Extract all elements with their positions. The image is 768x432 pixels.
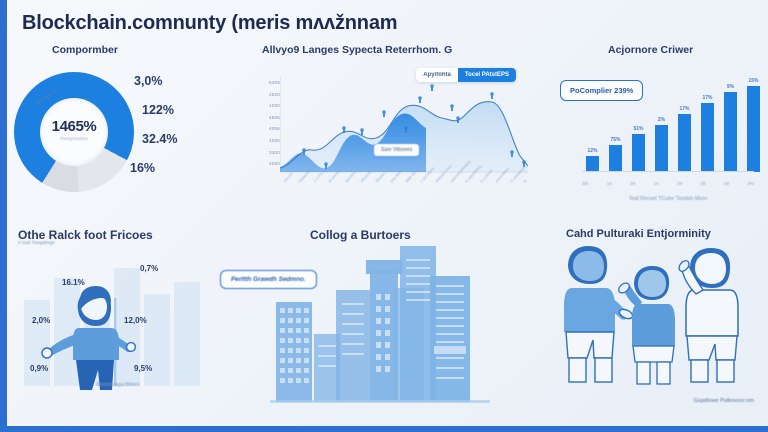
bar-value-label: 2% [658,117,665,123]
bar-chart-x-axis: 3/5 14 28 14 29 25 28 2% [582,181,754,186]
bottom-middle-panel: Perltth Grawdh Sedmno. [236,218,532,418]
bar-item[interactable]: 15% [747,78,760,172]
area-y-axis: 5405 2520 1000 4506 4006 1000 3300 2260 [246,80,280,173]
three-people-icon [556,240,754,388]
bar-tick-7: 28 [724,181,729,186]
bar-value-label: 17% [679,106,689,112]
bar-value-label: 75% [610,137,620,143]
bar-panel-heading: Acjornore Criwer [608,44,693,56]
bar-value-label: 9% [727,84,734,90]
y-tick-2: 2520 [246,92,280,97]
stat-label-1: 16.1% [62,278,85,287]
bar-rect[interactable] [632,134,645,172]
donut-center-subtitle: Pwrigntsiatisa [14,136,134,141]
footer-attribution: Gxpdlowe Pultesoce:om [694,398,754,404]
area-tooltip: Sare Vittsrees [374,144,419,156]
bar-rect[interactable] [724,92,737,172]
bar-tick-4: 14 [654,181,659,186]
bar-chart-panel: PoComplier 239% 12% 75% 51% 2% 17% [548,66,762,212]
stat-label-3: 2,0% [32,316,50,325]
bar-tick-3: 28 [630,181,635,186]
donut-legend-value-1: 3,0% [134,74,218,88]
bar-rect[interactable] [678,114,691,172]
bar-rect[interactable] [586,156,599,172]
donut-panel-heading: Compormber [52,44,118,56]
bar-rect[interactable] [609,145,622,172]
infographic-board: Blockchain.comnunty (meris mʌʌžnnam Comp… [0,0,768,432]
donut-center-label: 1465% Pwrigntsiatisa [14,118,134,141]
stat-label-5: 0,9% [30,364,48,373]
area-panel-heading: Allvyo9 Langes Sypecta Reterrhom. G [262,44,452,56]
bar-value-label: 15% [748,78,758,84]
area-chart-svg [280,76,528,180]
bottom-right-panel: Gxpdlowe Pultesoce:om [548,218,762,418]
bar-item[interactable]: 17% [678,78,691,172]
y-tick-4: 4506 [246,115,280,120]
stat-label-6: 9,5% [134,364,152,373]
bar-tick-5: 29 [677,181,682,186]
y-tick-7: 3300 [246,150,280,155]
bottom-edge-accent [0,426,768,432]
bar-value-label: 12% [587,148,597,154]
bar-item[interactable]: 17% [701,78,714,172]
bar-rect[interactable] [655,125,668,172]
area-x-axis: Juu-01 Sipaovme 1 1 PS 3ed B anmnonalbmn… [282,180,528,212]
bar-item[interactable]: 75% [609,78,622,172]
area-chart-panel: Apyifóhta Tocel PAtstEPS 5405 2520 1000 … [240,66,532,212]
bar-rect[interactable] [701,103,714,172]
stat-label-4: 12,0% [124,316,147,325]
donut-legend: 3,0% 122% 32.4% 16% [128,74,218,190]
person-3-icon [677,248,738,382]
cityscape-icon [270,246,490,406]
bar-chart-caption: Teal Recvel TCulor Toodah Morn [578,196,758,202]
y-tick-5: 4006 [246,126,280,131]
left-edge-accent [0,0,7,432]
bottom-left-panel: # Gak Towgalmgn [14,218,228,418]
y-tick-3: 1000 [246,103,280,108]
area-series-primary [280,114,426,172]
page-title: Blockchain.comnunty (meris mʌʌžnnam [22,12,397,35]
bar-chart-bars: 12% 75% 51% 2% 17% 17% [586,78,760,172]
stat-label-2: 0,7% [140,264,158,273]
y-tick-6: 1000 [246,138,280,143]
bar-rect[interactable] [747,86,760,172]
y-tick-1: 5405 [246,80,280,85]
bottom-left-illustration: 16.1% 0,7% 2,0% 12,0% 0,9% 9,5% Monshtoa… [18,254,218,394]
bar-tick-6: 25 [700,181,705,186]
bar-value-label: 51% [633,126,643,132]
donut-center-value: 1465% [14,118,134,135]
bar-item[interactable]: 12% [586,78,599,172]
donut-legend-value-3: 32.4% [142,132,218,146]
y-tick-8: 2260 [246,161,280,166]
person-1-icon [564,246,634,382]
bar-item[interactable]: 51% [632,78,645,172]
bar-tick-1: 3/5 [582,181,588,186]
bar-value-label: 17% [702,95,712,101]
bar-tick-8: 2% [747,181,754,186]
bar-item[interactable]: 2% [655,78,668,172]
bottom-left-subtitle: # Gak Towgalmgn [18,240,55,245]
donut-legend-value-2: 122% [142,103,218,117]
donut-legend-value-4: 16% [130,161,218,175]
bar-tick-2: 14 [607,181,612,186]
bar-item[interactable]: 9% [724,78,737,172]
person-2-icon [617,266,675,384]
bar-chart-baseline [582,171,754,172]
donut-chart: MGEROTEL 1465% Pwrigntsiatisa [14,72,134,192]
bottom-left-caption: Monshtoaga Bhlers [18,382,218,388]
